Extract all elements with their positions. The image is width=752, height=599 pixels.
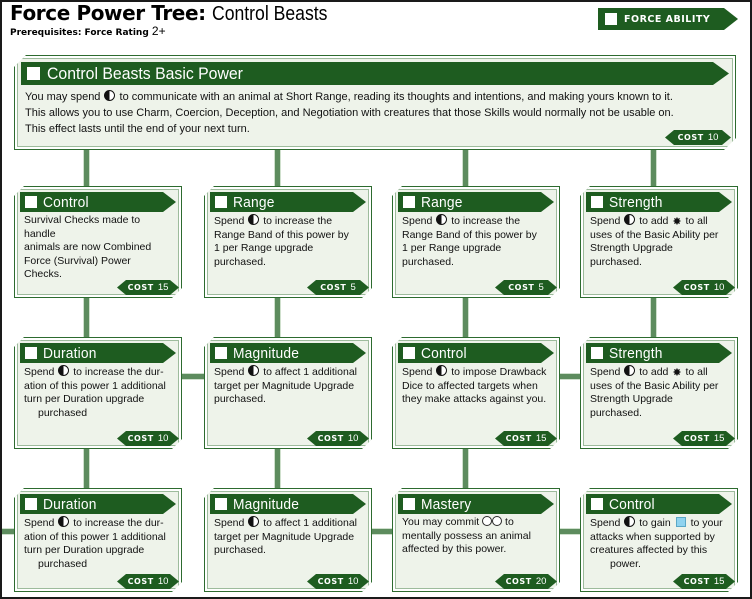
node-header: Duration <box>20 494 176 514</box>
force-die-icon <box>58 516 69 527</box>
node-title: Magnitude <box>233 496 299 513</box>
checkbox-icon[interactable] <box>25 196 37 208</box>
cost-value: 5 <box>351 282 356 293</box>
checkbox-icon[interactable] <box>27 67 40 80</box>
connector-r2c1-to-r3c1 <box>83 447 90 489</box>
node-title: Duration <box>43 496 97 513</box>
force-die-icon <box>104 90 115 101</box>
cost-badge: COST 10 <box>665 130 731 145</box>
cost-value: 10 <box>348 433 359 444</box>
checkbox-icon[interactable] <box>25 498 37 510</box>
prerequisites: Prerequisites: Force Rating 2+ <box>10 26 344 39</box>
page-title: Force Power Tree: Control Beasts <box>10 2 344 25</box>
cost-label: COST <box>678 133 704 142</box>
node-r2c3-control[interactable]: Control Spend to impose Drawback Dice to… <box>392 337 560 449</box>
force-die-icon <box>624 516 635 527</box>
force-die-icon <box>248 214 259 225</box>
node-line: You may commit to <box>402 516 548 530</box>
node-title: Control <box>43 194 89 211</box>
connector-r3c1-left-stub <box>0 528 16 535</box>
checkbox-icon[interactable] <box>605 13 617 25</box>
node-body: Spend to affect 1 additional target per … <box>210 363 366 407</box>
node-line: Spend to affect 1 additional <box>214 365 360 380</box>
basic-power-line-2: This allows you to use Charm, Coercion, … <box>25 105 721 121</box>
node-header: Control <box>398 343 554 363</box>
checkbox-icon[interactable] <box>403 347 415 359</box>
node-line: Spend to impose Drawback <box>402 365 548 380</box>
force-die-icon <box>436 214 447 225</box>
checkbox-icon[interactable] <box>215 347 227 359</box>
force-power-tree-page: Force Power Tree: Control Beasts Prerequ… <box>0 0 752 599</box>
node-header: Strength <box>586 343 732 363</box>
node-line: Spend to increase the <box>214 214 360 229</box>
cost-value: 15 <box>536 433 547 444</box>
node-line: Spend to add ✸ to all <box>590 365 726 380</box>
connector-r1c2-to-r2c2 <box>274 296 281 338</box>
node-line: 1 per Range upgrade purchased. <box>214 242 360 269</box>
cost-label: COST <box>684 434 710 443</box>
force-die-icon <box>436 365 447 376</box>
node-line: power. <box>590 558 726 572</box>
node-line: creatures affected by this <box>590 544 726 558</box>
node-line: animals are now Combined <box>24 241 170 255</box>
cost-label: COST <box>128 283 154 292</box>
cost-badge: COST 5 <box>307 280 369 295</box>
cost-value: 10 <box>348 576 359 587</box>
node-line: Range Band of this power by <box>402 229 548 243</box>
node-title: Strength <box>609 194 663 211</box>
prerequisites-value: 2+ <box>152 24 166 38</box>
checkbox-icon[interactable] <box>403 196 415 208</box>
node-header: Control <box>586 494 732 514</box>
node-line: purchased. <box>214 393 360 407</box>
connector-r2c3-to-r3c3 <box>462 447 469 489</box>
cost-value: 5 <box>539 282 544 293</box>
force-point-icon <box>482 516 492 526</box>
node-header: Strength <box>586 192 732 212</box>
checkbox-icon[interactable] <box>215 498 227 510</box>
node-title: Control <box>609 496 655 513</box>
node-r1c1-control[interactable]: Control Survival Checks made to handle a… <box>14 186 182 298</box>
connector-basic-to-r1c1 <box>83 148 90 188</box>
node-line: Force (Survival) Power Checks. <box>24 255 170 282</box>
node-title: Magnitude <box>233 345 299 362</box>
page-title-bold: Force Power Tree: <box>10 1 206 25</box>
checkbox-icon[interactable] <box>591 196 603 208</box>
node-line: turn per Duration upgrade <box>24 544 170 558</box>
checkbox-icon[interactable] <box>25 347 37 359</box>
cost-badge: COST 5 <box>495 280 557 295</box>
force-die-icon <box>248 365 259 376</box>
cost-badge: COST 10 <box>117 574 179 589</box>
cost-label: COST <box>318 434 344 443</box>
node-r2c1-duration[interactable]: Duration Spend to increase the dur- atio… <box>14 337 182 449</box>
cost-value: 20 <box>536 576 547 587</box>
node-line: purchased <box>24 558 170 572</box>
node-r3c1-duration[interactable]: Duration Spend to increase the dur- atio… <box>14 488 182 592</box>
cost-badge: COST 10 <box>117 431 179 446</box>
node-body: Survival Checks made to handle animals a… <box>20 212 176 282</box>
force-ability-label: FORCE ABILITY <box>624 14 710 25</box>
cost-value: 10 <box>158 433 169 444</box>
basic-power-line-3: This effect lasts until the end of your … <box>25 121 721 137</box>
cost-badge: COST 15 <box>673 431 735 446</box>
force-die-icon <box>58 365 69 376</box>
node-line: they make attacks against you. <box>402 393 548 407</box>
cost-label: COST <box>506 577 532 586</box>
node-line: purchased <box>24 407 170 421</box>
node-body: Spend to increase the dur- ation of this… <box>20 363 176 420</box>
node-body: You may commit to mentally possess an an… <box>398 514 554 557</box>
boost-die-icon <box>676 517 686 527</box>
cost-value: 15 <box>158 282 169 293</box>
node-r2c2-magnitude[interactable]: Magnitude Spend to affect 1 additional t… <box>204 337 372 449</box>
node-body: Spend to impose Drawback Dice to affecte… <box>398 363 554 407</box>
node-header: Mastery <box>398 494 554 514</box>
node-line: mentally possess an animal <box>402 530 548 544</box>
node-body: Spend to add ✸ to all uses of the Basic … <box>586 212 732 269</box>
node-header: Range <box>210 192 366 212</box>
cost-label: COST <box>128 577 154 586</box>
node-title: Mastery <box>421 496 471 513</box>
force-ability-badge[interactable]: FORCE ABILITY <box>598 8 738 30</box>
node-body: Spend to increase the Range Band of this… <box>398 212 554 269</box>
checkbox-icon[interactable] <box>215 196 227 208</box>
checkbox-icon[interactable] <box>591 347 603 359</box>
cost-label: COST <box>684 577 710 586</box>
node-line: uses of the Basic Ability per <box>590 380 726 394</box>
node-title: Range <box>421 194 463 211</box>
node-title: Duration <box>43 345 97 362</box>
cost-label: COST <box>684 283 710 292</box>
node-line: Spend to increase the <box>402 214 548 229</box>
connector-r1c4-to-r2c4 <box>650 296 657 338</box>
connector-r2c2-to-r3c2 <box>274 447 281 489</box>
cost-value: 10 <box>158 576 169 587</box>
node-line: Spend to gain to your <box>590 516 726 531</box>
node-body: Spend to add ✸ to all uses of the Basic … <box>586 363 732 420</box>
node-line: purchased. <box>214 544 360 558</box>
force-die-icon <box>624 365 635 376</box>
connector-basic-to-r1c3 <box>462 148 469 188</box>
page-title-power-name: Control Beasts <box>212 3 327 25</box>
node-line: attacks when supported by <box>590 531 726 545</box>
node-line: Survival Checks made to handle <box>24 214 170 241</box>
cost-badge: COST 10 <box>673 280 735 295</box>
node-line: ation of this power 1 additional <box>24 380 170 394</box>
node-r3c3-mastery[interactable]: Mastery You may commit to mentally posse… <box>392 488 560 592</box>
node-title: Control <box>421 345 467 362</box>
node-body: Spend to gain to your attacks when suppo… <box>586 514 732 571</box>
basic-power-card[interactable]: Control Beasts Basic Power You may spend… <box>14 55 736 150</box>
connector-r1c1-to-r2c1 <box>83 296 90 338</box>
basic-power-header: Control Beasts Basic Power <box>21 62 729 85</box>
cost-label: COST <box>128 434 154 443</box>
cost-badge: COST 15 <box>495 431 557 446</box>
basic-power-title: Control Beasts Basic Power <box>47 64 243 84</box>
force-pip-star-icon: ✸ <box>672 369 681 378</box>
force-die-icon <box>624 214 635 225</box>
cost-value: 15 <box>714 576 725 587</box>
force-point-icon <box>492 516 502 526</box>
cost-label: COST <box>318 577 344 586</box>
node-body: Spend to affect 1 additional target per … <box>210 514 366 558</box>
node-line: Spend to increase the dur- <box>24 365 170 380</box>
node-line: Spend to add ✸ to all <box>590 214 726 229</box>
node-line: 1 per Range upgrade purchased. <box>402 242 548 269</box>
node-body: Spend to increase the dur- ation of this… <box>20 514 176 571</box>
node-title: Range <box>233 194 275 211</box>
page-header: Force Power Tree: Control Beasts Prerequ… <box>10 2 344 39</box>
node-r3c2-magnitude[interactable]: Magnitude Spend to affect 1 additional t… <box>204 488 372 592</box>
node-r1c4-strength[interactable]: Strength Spend to add ✸ to all uses of t… <box>580 186 738 298</box>
node-body: Spend to increase the Range Band of this… <box>210 212 366 269</box>
node-header: Magnitude <box>210 343 366 363</box>
node-line: target per Magnitude Upgrade <box>214 531 360 545</box>
node-line: turn per Duration upgrade <box>24 393 170 407</box>
checkbox-icon[interactable] <box>591 498 603 510</box>
cost-value: 15 <box>714 433 725 444</box>
cost-value: 10 <box>714 282 725 293</box>
force-pip-star-icon: ✸ <box>672 218 681 227</box>
node-r1c2-range[interactable]: Range Spend to increase the Range Band o… <box>204 186 372 298</box>
node-line: Strength Upgrade purchased. <box>590 393 726 420</box>
cost-badge: COST 10 <box>307 574 369 589</box>
node-line: Range Band of this power by <box>214 229 360 243</box>
connector-r1c3-to-r2c3 <box>462 296 469 338</box>
node-header: Magnitude <box>210 494 366 514</box>
basic-power-line-1: You may spend to communicate with an ani… <box>25 89 721 105</box>
connector-basic-to-r1c4 <box>650 148 657 188</box>
cost-badge: COST 15 <box>117 280 179 295</box>
node-r3c4-control[interactable]: Control Spend to gain to your attacks wh… <box>580 488 738 592</box>
cost-label: COST <box>508 283 534 292</box>
cost-badge: COST 20 <box>495 574 557 589</box>
node-line: affected by this power. <box>402 543 548 557</box>
node-line: Spend to increase the dur- <box>24 516 170 531</box>
node-title: Strength <box>609 345 663 362</box>
node-line: Strength Upgrade purchased. <box>590 242 726 269</box>
cost-badge: COST 15 <box>673 574 735 589</box>
checkbox-icon[interactable] <box>403 498 415 510</box>
node-line: uses of the Basic Ability per <box>590 229 726 243</box>
node-header: Control <box>20 192 176 212</box>
node-header: Range <box>398 192 554 212</box>
basic-power-body: You may spend to communicate with an ani… <box>21 85 729 137</box>
cost-label: COST <box>320 283 346 292</box>
node-line: Spend to affect 1 additional <box>214 516 360 531</box>
node-line: target per Magnitude Upgrade <box>214 380 360 394</box>
node-line: ation of this power 1 additional <box>24 531 170 545</box>
force-die-icon <box>248 516 259 527</box>
prerequisites-label: Prerequisites: Force Rating <box>10 28 149 38</box>
cost-value: 10 <box>708 132 719 143</box>
node-line: Dice to affected targets when <box>402 380 548 394</box>
cost-label: COST <box>506 434 532 443</box>
cost-badge: COST 10 <box>307 431 369 446</box>
node-header: Duration <box>20 343 176 363</box>
node-r1c3-range[interactable]: Range Spend to increase the Range Band o… <box>392 186 560 298</box>
connector-basic-to-r1c2 <box>274 148 281 188</box>
node-r2c4-strength[interactable]: Strength Spend to add ✸ to all uses of t… <box>580 337 738 449</box>
